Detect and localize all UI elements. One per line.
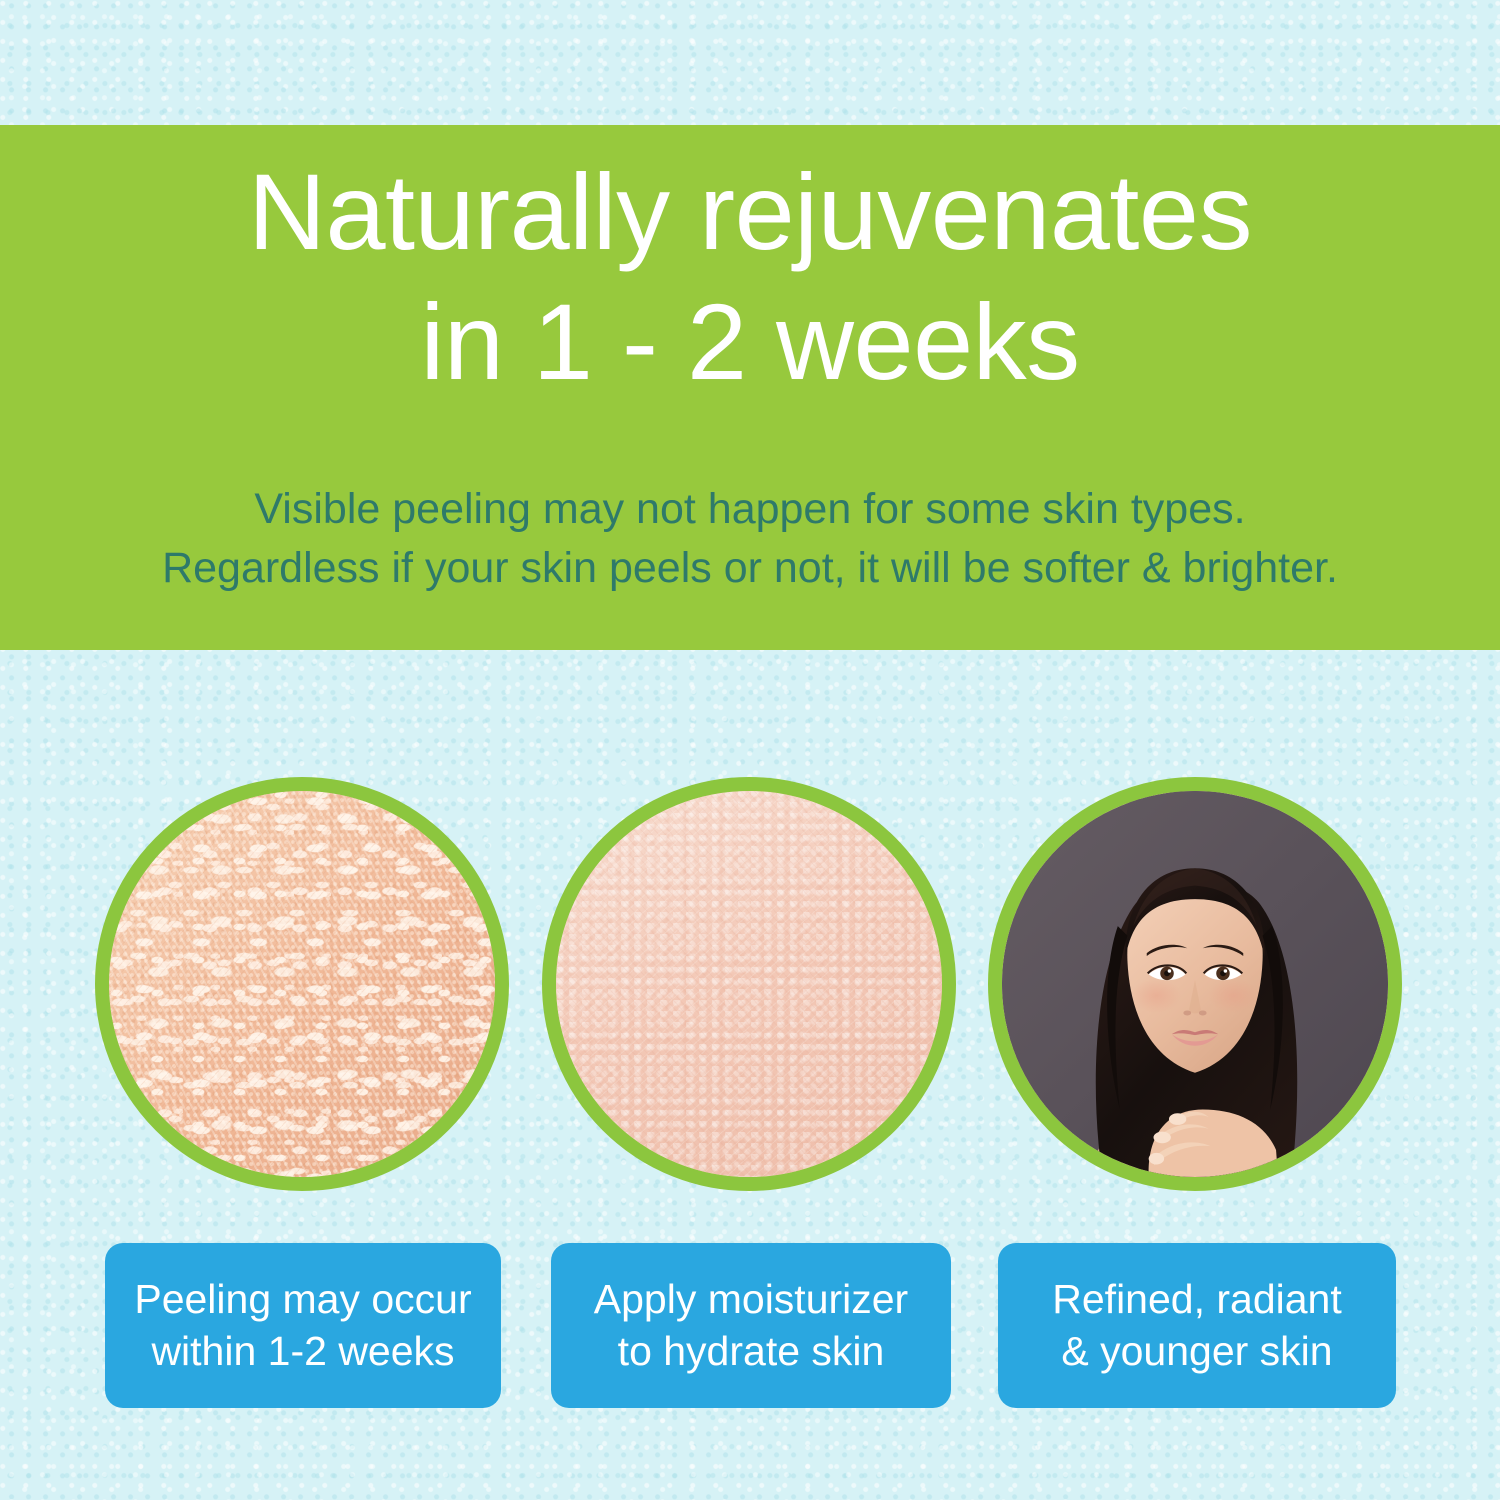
step-1-caption: Peeling may occur within 1-2 weeks	[105, 1243, 501, 1408]
page-subtitle: Visible peeling may not happen for some …	[0, 480, 1500, 599]
caption-row: Peeling may occur within 1-2 weeks Apply…	[0, 1243, 1500, 1418]
step-3-image-circle	[988, 777, 1402, 1191]
step-3-caption: Refined, radiant & younger skin	[998, 1243, 1396, 1408]
model-portrait-illustration	[1002, 791, 1388, 1177]
headline-banner: Naturally rejuvenates in 1 - 2 weeks Vis…	[0, 125, 1500, 650]
page-title: Naturally rejuvenates in 1 - 2 weeks	[0, 147, 1500, 406]
step-image-row	[0, 777, 1500, 1197]
hydrated-skin-closeup	[556, 791, 942, 1177]
step-2-image-circle	[542, 777, 956, 1191]
step-1-image-circle	[95, 777, 509, 1191]
step-2-caption: Apply moisturizer to hydrate skin	[551, 1243, 951, 1408]
peeling-skin-closeup	[109, 791, 495, 1177]
model-portrait	[1002, 791, 1388, 1177]
